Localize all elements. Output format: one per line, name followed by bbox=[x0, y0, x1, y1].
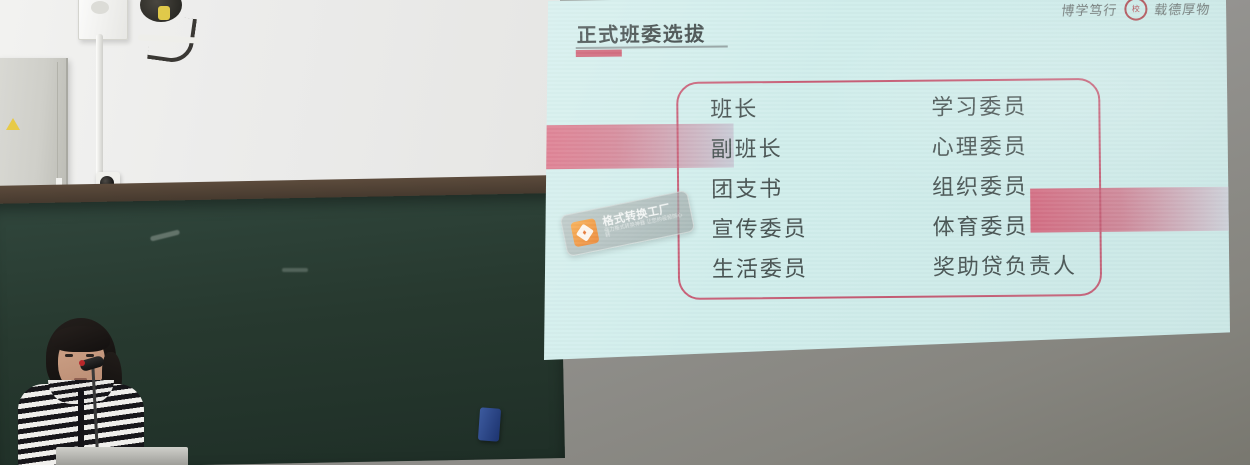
wall-junction-box bbox=[78, 0, 128, 40]
logo-text-left: 博学笃行 bbox=[1060, 0, 1118, 19]
role-item: 组织委员 bbox=[898, 167, 1085, 209]
electrical-hazard-triangle-icon bbox=[6, 118, 20, 130]
wall-conduit-pipe bbox=[96, 34, 103, 194]
role-item: 学习委员 bbox=[897, 87, 1084, 129]
role-item: 团支书 bbox=[711, 169, 898, 211]
role-item: 副班长 bbox=[711, 129, 898, 171]
orange-diamond-icon: ♦ bbox=[570, 217, 599, 246]
diamond-shape: ♦ bbox=[576, 223, 594, 241]
projection-screen: 博学笃行 校 载德厚物 正式班委选拔 班长 副班长 团支书 宣传委员 生活委员 bbox=[544, 0, 1230, 360]
role-item: 班长 bbox=[710, 89, 897, 131]
roles-column-left: 班长 副班长 团支书 宣传委员 生活委员 bbox=[710, 89, 899, 291]
role-item: 奖助贷负责人 bbox=[899, 247, 1086, 289]
logo-text-right: 载德厚物 bbox=[1153, 0, 1211, 18]
slide-title: 正式班委选拔 bbox=[576, 18, 705, 48]
presenter bbox=[10, 318, 150, 465]
roles-column-right: 学习委员 心理委员 组织委员 体育委员 奖助贷负责人 bbox=[897, 87, 1086, 289]
role-item: 心理委员 bbox=[898, 127, 1085, 169]
role-item: 宣传委员 bbox=[711, 209, 898, 251]
watermark-text: 格式转换工厂 强力格式转换神器 让您的视频随心转 bbox=[602, 201, 685, 240]
microphone-indicator bbox=[79, 360, 85, 366]
title-underline bbox=[576, 46, 728, 49]
roles-container: 班长 副班长 团支书 宣传委员 生活委员 学习委员 心理委员 组织委员 体育委员… bbox=[676, 78, 1102, 300]
title-accent-bar bbox=[576, 50, 622, 57]
role-item: 体育委员 bbox=[898, 207, 1085, 249]
classroom-projection-scene: 博学笃行 校 载德厚物 正式班委选拔 班长 副班长 团支书 宣传委员 生活委员 bbox=[0, 0, 1250, 465]
watermark-badge: ♦ 格式转换工厂 强力格式转换神器 让您的视频随心转 bbox=[560, 190, 696, 257]
logo-seal-icon: 校 bbox=[1124, 0, 1147, 21]
presenter-eye-left bbox=[65, 354, 73, 357]
presentation-slide: 博学笃行 校 载德厚物 正式班委选拔 班长 副班长 团支书 宣传委员 生活委员 bbox=[542, 0, 1232, 363]
blackboard-eraser bbox=[478, 407, 501, 441]
presenter-fringe bbox=[52, 326, 110, 352]
role-item: 生活委员 bbox=[712, 249, 899, 291]
chalk-mark bbox=[282, 268, 308, 272]
roles-grid: 班长 副班长 团支书 宣传委员 生活委员 学习委员 心理委员 组织委员 体育委员… bbox=[678, 80, 1100, 298]
university-logo: 博学笃行 校 载德厚物 bbox=[1061, 0, 1210, 21]
lectern bbox=[56, 447, 188, 465]
